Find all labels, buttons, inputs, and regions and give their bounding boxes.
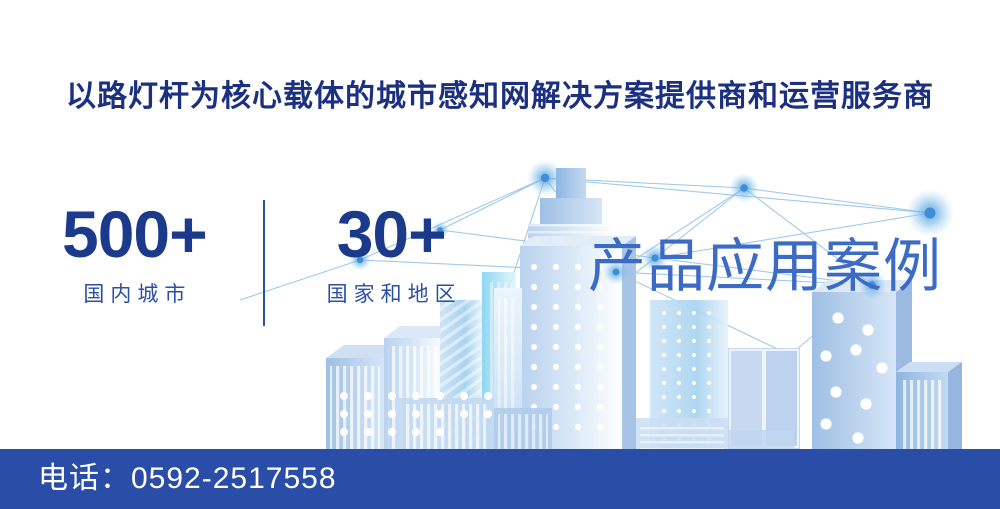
stat-divider (263, 200, 265, 326)
statistics-group: 500+ 国内城市 30+ 国家和地区 (62, 198, 462, 328)
banner-headline: 以路灯杆为核心载体的城市感知网解决方案提供商和运营服务商 (0, 78, 1000, 116)
stat-number-countries-regions: 30+ (337, 198, 446, 270)
product-case-banner: 以路灯杆为核心载体的城市感知网解决方案提供商和运营服务商 500+ 国内城市 3… (0, 0, 1000, 509)
phone-number-text: 电话：0592-2517558 (38, 461, 337, 497)
phone-bar: 电话：0592-2517558 (0, 449, 1000, 509)
stat-label-domestic-cities: 国内城市 (77, 282, 191, 308)
stat-label-countries-regions: 国家和地区 (321, 282, 462, 308)
stat-block-countries-regions: 30+ 国家和地区 (321, 198, 462, 328)
stat-block-domestic-cities: 500+ 国内城市 (62, 198, 207, 328)
section-title: 产品应用案例 (588, 236, 942, 298)
stat-number-domestic-cities: 500+ (62, 198, 207, 270)
